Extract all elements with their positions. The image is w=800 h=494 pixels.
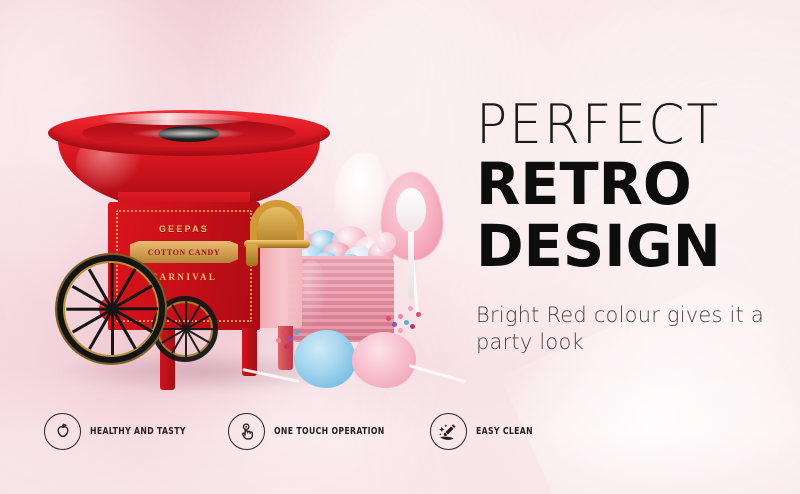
candy-sprinkle — [416, 312, 421, 317]
headline-subtitle: Bright Red colour gives it a party look — [476, 302, 776, 356]
product-image: GEEPAS COTTON CANDY CARNIVAL — [0, 0, 470, 420]
product-promo-banner: GEEPAS COTTON CANDY CARNIVAL — [0, 0, 800, 494]
candy-sprinkle — [294, 330, 299, 335]
candy-floss-puff — [376, 232, 396, 252]
wheel-spoke — [111, 309, 114, 355]
brand-logo-text: GEEPAS — [108, 224, 260, 234]
feature-label: ONE TOUCH OPERATION — [274, 426, 385, 437]
feature-label: EASY CLEAN — [476, 426, 533, 437]
ribbon-label: COTTON CANDY — [148, 248, 221, 257]
handle-stub — [246, 244, 258, 266]
candy-sprinkle — [392, 322, 397, 327]
candy-sprinkle — [288, 336, 293, 341]
candy-sprinkle — [408, 306, 413, 311]
candy-sprinkle — [410, 324, 415, 329]
candy-sprinkle — [398, 314, 403, 319]
easy-clean-brush-icon — [430, 413, 467, 450]
headline-block: PERFECT RETRO DESIGN Bright Red colour g… — [476, 96, 776, 356]
handle-arc — [250, 200, 304, 242]
wheel-spoke — [66, 308, 112, 311]
wheel-spoke — [112, 308, 158, 311]
candy-sprinkle — [386, 316, 391, 321]
one-touch-finger-icon — [228, 413, 265, 450]
wheel-spoke — [111, 263, 114, 309]
headline-line-3: DESIGN — [476, 216, 773, 276]
white-spoon — [396, 188, 426, 298]
feature-badge: HEALTHY AND TASTY — [44, 413, 201, 450]
headline-line-2: RETRO — [476, 154, 773, 214]
spoon-stem — [408, 228, 414, 300]
cotton-candy-ribbon: COTTON CANDY — [130, 240, 238, 264]
candy-sprinkle — [282, 330, 287, 335]
machine-handle — [244, 200, 310, 262]
candy-sprinkle — [284, 344, 289, 349]
candy-sprinkle — [276, 338, 281, 343]
feature-badge: ONE TOUCH OPERATION — [228, 413, 403, 450]
lolly-head — [352, 332, 416, 388]
candy-sprinkle — [404, 320, 409, 325]
spoon-bowl — [396, 188, 426, 232]
cotton-candy-lolly-blue — [294, 330, 356, 388]
lolly-head — [294, 330, 356, 388]
feature-label: HEALTHY AND TASTY — [90, 426, 186, 437]
spinner-head — [158, 126, 220, 142]
apple-icon — [44, 413, 81, 450]
feature-badge: EASY CLEAN — [430, 413, 542, 450]
machine-wheel-front — [57, 255, 165, 363]
headline-line-1: PERFECT — [476, 96, 764, 154]
bowl-highlight — [100, 113, 250, 125]
feature-badge-list: HEALTHY AND TASTYONE TOUCH OPERATIONEASY… — [44, 413, 542, 450]
candy-sprinkle — [398, 328, 403, 333]
lolly-stick — [409, 364, 466, 383]
cotton-candy-lolly-pink — [352, 332, 416, 388]
